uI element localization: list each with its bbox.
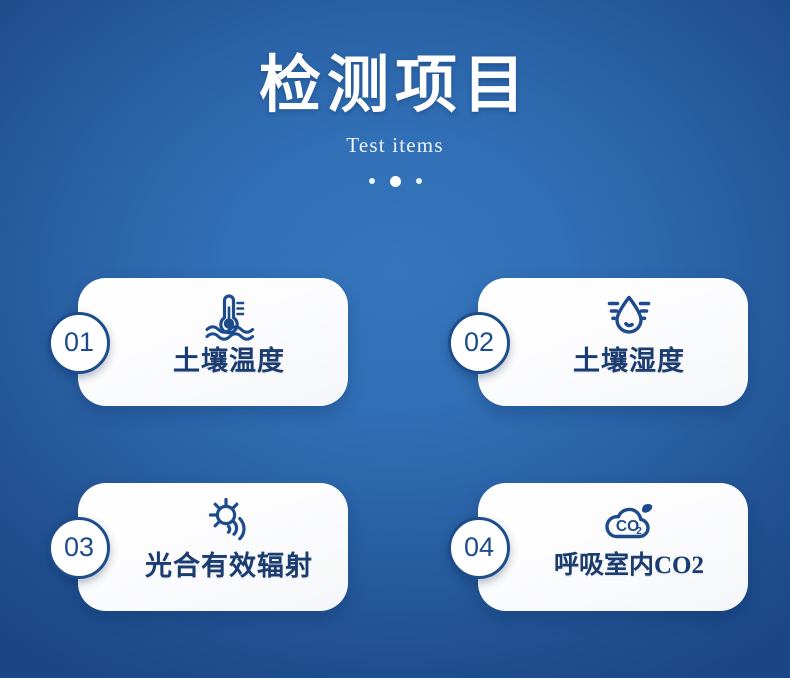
card-number: 03 [64, 534, 94, 562]
header-block: 检测项目 Test items [0, 0, 790, 188]
card-number-badge: 02 [448, 312, 510, 374]
test-item-card-03[interactable]: 光合有效辐射 03 [48, 483, 348, 613]
test-item-card-04[interactable]: CO 2 呼吸室内CO2 04 [448, 483, 748, 613]
card-content: CO 2 呼吸室内CO2 [510, 483, 748, 611]
water-droplet-icon [597, 291, 661, 341]
test-item-card-02[interactable]: 土壤湿度 02 [448, 278, 748, 408]
page-subtitle: Test items [0, 132, 790, 158]
card-label: 土壤湿度 [573, 344, 685, 378]
card-number-badge: 01 [48, 312, 110, 374]
card-number-badge: 03 [48, 517, 110, 579]
co2-cloud-icon: CO 2 [597, 496, 661, 546]
card-number: 04 [464, 534, 494, 562]
card-label: 光合有效辐射 [145, 549, 313, 583]
poster-stage: 检测项目 Test items [0, 0, 790, 678]
sun-radiation-icon [197, 496, 261, 546]
card-number: 01 [64, 329, 94, 357]
test-item-card-01[interactable]: 土壤温度 01 [48, 278, 348, 408]
card-content: 光合有效辐射 [110, 483, 348, 611]
card-number-badge: 04 [448, 517, 510, 579]
card-number: 02 [464, 329, 494, 357]
cards-grid: 土壤温度 01 土壤湿度 02 [0, 278, 790, 618]
page-title: 检测项目 [0, 52, 790, 120]
dot-small-right-icon [416, 178, 422, 184]
svg-text:2: 2 [636, 526, 642, 537]
card-label: 土壤温度 [173, 344, 285, 378]
dot-small-left-icon [369, 178, 375, 184]
dot-separator [0, 174, 790, 188]
card-label: 呼吸室内CO2 [554, 549, 704, 583]
dot-large-center-icon [390, 176, 401, 187]
card-content: 土壤温度 [110, 278, 348, 406]
thermometer-water-icon [197, 291, 261, 341]
card-content: 土壤湿度 [510, 278, 748, 406]
